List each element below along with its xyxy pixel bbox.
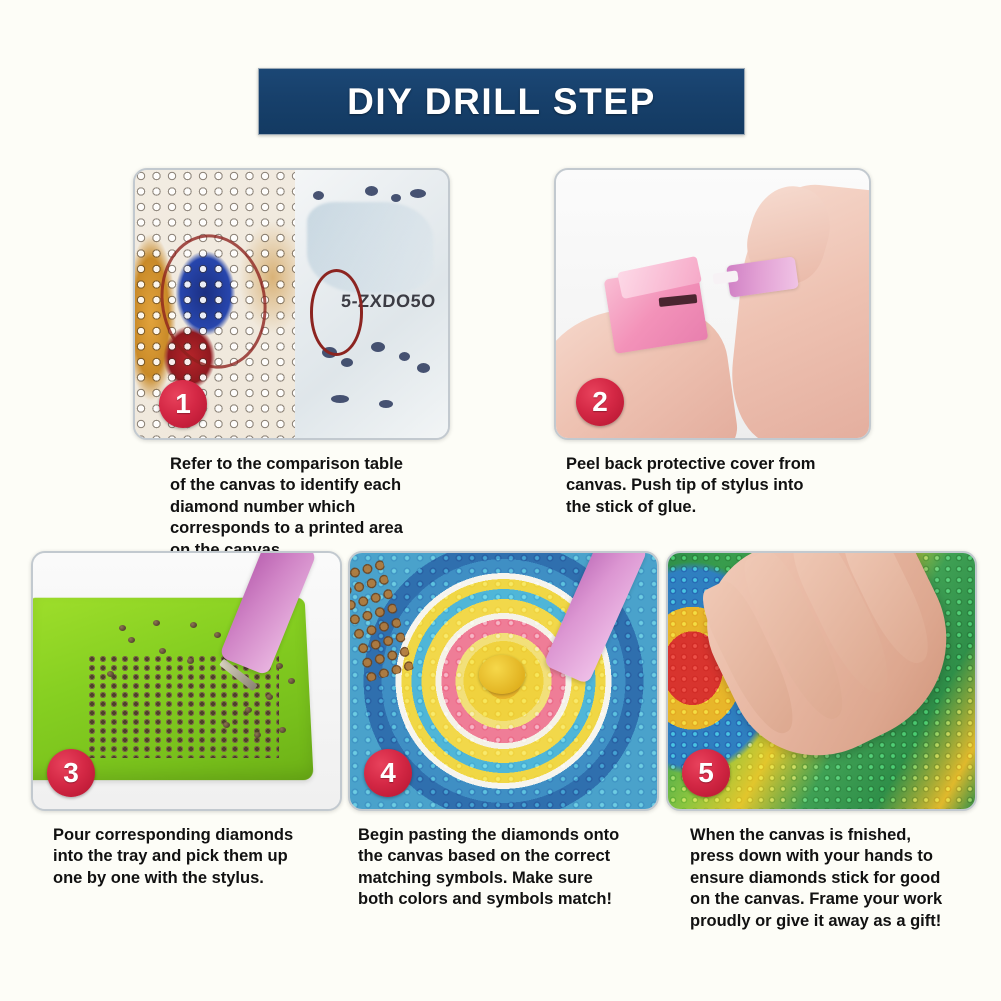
bag-drill — [313, 191, 324, 200]
bag-drill — [391, 194, 401, 202]
step-1-panel: 5-ZXDO5O 1 Refer to the comparison table… — [133, 168, 450, 561]
bag-drill — [399, 352, 410, 361]
step-5-panel: 5 When the canvas is fnished, press down… — [666, 551, 977, 932]
step-5-image: 5 — [666, 551, 977, 811]
step-number-badge-3: 3 — [47, 749, 95, 797]
step-5-caption: When the canvas is fnished, press down w… — [666, 825, 977, 932]
step-number-badge-5: 5 — [682, 749, 730, 797]
step-4-caption: Begin pasting the diamonds onto the canv… — [348, 825, 659, 911]
bag-drill — [417, 363, 430, 373]
step-number-badge-4: 4 — [364, 749, 412, 797]
canvas-highlight-ring-icon — [150, 226, 277, 377]
page-title: DIY DRILL STEP — [347, 81, 656, 123]
bag-drill — [331, 395, 349, 403]
step-1-caption: Refer to the comparison table of the can… — [133, 454, 450, 561]
diamond-bag-graphic: 5-ZXDO5O — [295, 170, 448, 438]
mandala-center-gem-graphic — [479, 655, 525, 693]
page-title-banner: DIY DRILL STEP — [258, 68, 745, 135]
bag-drill — [379, 400, 393, 408]
step-number-badge-2: 2 — [576, 378, 624, 426]
step-4-panel: 4 Begin pasting the diamonds onto the ca… — [348, 551, 659, 911]
bag-label-highlight-ring-icon — [310, 269, 364, 355]
step-1-image: 5-ZXDO5O 1 — [133, 168, 450, 440]
bag-drill — [371, 342, 385, 352]
step-3-caption: Pour corresponding diamonds into the tra… — [31, 825, 342, 889]
step-3-panel: 3 Pour corresponding diamonds into the t… — [31, 551, 342, 889]
step-2-panel: 2 Peel back protective cover from canvas… — [554, 168, 871, 518]
bag-drill — [341, 358, 353, 367]
step-3-image: 3 — [31, 551, 342, 811]
step-2-image: 2 — [554, 168, 871, 440]
step-2-caption: Peel back protective cover from canvas. … — [554, 454, 871, 518]
bag-drill — [410, 189, 426, 198]
step-number-badge-1: 1 — [159, 380, 207, 428]
step-4-image: 4 — [348, 551, 659, 811]
bag-drill — [365, 186, 378, 196]
